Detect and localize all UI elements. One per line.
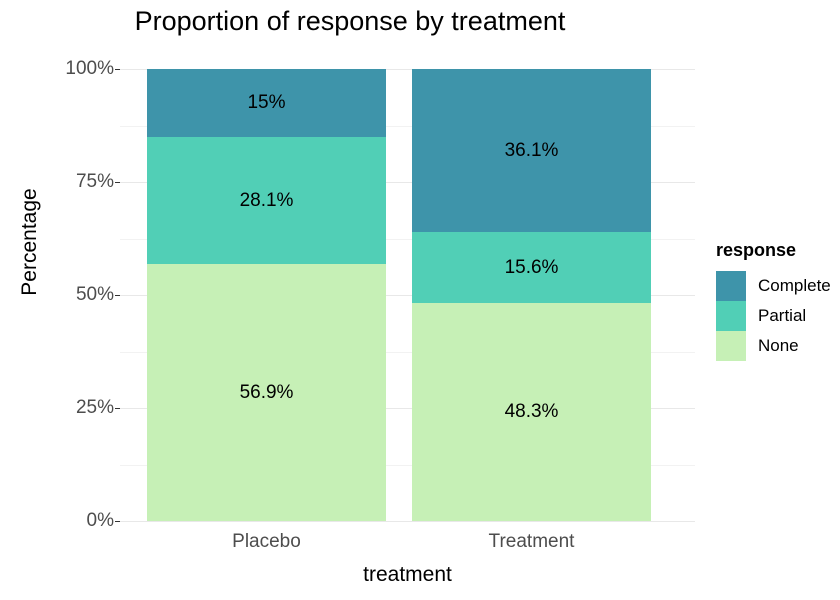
bar-segment-complete[interactable]: 36.1% <box>412 69 651 232</box>
bar-segment-label: 36.1% <box>505 141 559 160</box>
x-axis-title: treatment <box>120 563 695 587</box>
bar-segment-label: 15.6% <box>505 258 559 277</box>
bar-segment-label: 15% <box>247 93 285 112</box>
y-axis-tick-label: 50% <box>34 284 114 306</box>
bar-segment-partial[interactable]: 28.1% <box>147 137 386 264</box>
y-axis-tick-label: 0% <box>34 510 114 532</box>
x-axis-tick-treatment: Treatment <box>412 531 652 553</box>
bar-placebo[interactable]: 56.9%28.1%15% <box>147 69 386 521</box>
bar-segment-none[interactable]: 48.3% <box>412 303 651 521</box>
legend-swatch-complete <box>716 271 746 301</box>
y-axis-tick-label: 75% <box>34 171 114 193</box>
bar-segment-label: 48.3% <box>505 402 559 421</box>
legend-label: None <box>758 336 799 356</box>
chart-container: Proportion of response by treatment Perc… <box>0 0 840 600</box>
gridline-major <box>120 521 695 522</box>
legend-item-partial[interactable]: Partial <box>716 301 831 331</box>
legend-swatch-partial <box>716 301 746 331</box>
legend-swatch-none <box>716 331 746 361</box>
legend-item-complete[interactable]: Complete <box>716 271 831 301</box>
bar-segment-partial[interactable]: 15.6% <box>412 232 651 303</box>
bar-segment-none[interactable]: 56.9% <box>147 264 386 521</box>
legend-title: response <box>716 240 831 261</box>
chart-title: Proportion of response by treatment <box>0 6 700 37</box>
bar-segment-complete[interactable]: 15% <box>147 69 386 137</box>
x-axis-tick-placebo: Placebo <box>147 531 387 553</box>
legend-label: Partial <box>758 306 806 326</box>
y-axis-tick-label: 25% <box>34 397 114 419</box>
bar-treatment[interactable]: 48.3%15.6%36.1% <box>412 69 651 521</box>
legend: response CompletePartialNone <box>716 240 831 361</box>
y-axis-tick-label: 100% <box>34 58 114 80</box>
legend-items: CompletePartialNone <box>716 271 831 361</box>
bar-segment-label: 28.1% <box>240 191 294 210</box>
legend-label: Complete <box>758 276 831 296</box>
legend-item-none[interactable]: None <box>716 331 831 361</box>
plot-panel: 56.9%28.1%15%48.3%15.6%36.1% <box>120 69 695 521</box>
bar-segment-label: 56.9% <box>240 383 294 402</box>
